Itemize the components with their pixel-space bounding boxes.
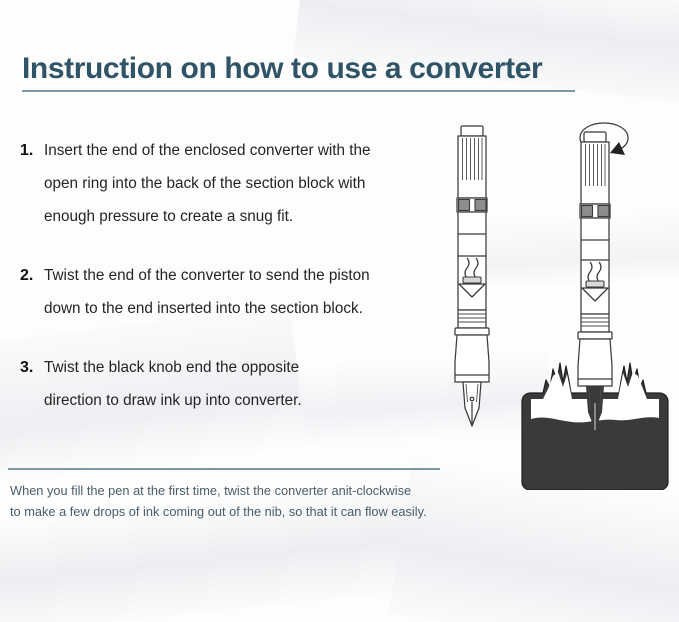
nib-breather-hole <box>470 397 474 401</box>
left-figure-converter-in-section <box>455 126 489 426</box>
step-number: 3. <box>20 351 44 384</box>
step-text-line: Insert the end of the enclosed converter… <box>44 134 371 167</box>
converter-and-ink-bottle-diagram: .ln { fill:none; stroke:#3b3b3b; stroke-… <box>430 110 679 490</box>
step-text-line: open ring into the back of the section b… <box>44 167 365 200</box>
rotation-arrow-head <box>610 142 625 155</box>
step-text-line: direction to draw ink up into converter. <box>44 384 302 417</box>
step-text-line: Twist the black knob end the opposite <box>44 351 299 384</box>
step-first-line: 2. Twist the end of the converter to sen… <box>20 259 450 292</box>
ribbed-collar <box>581 314 609 332</box>
instruction-sheet: Instruction on how to use a converter 1.… <box>0 0 679 622</box>
right-figure-pen-in-ink-bottle <box>522 123 668 490</box>
ring-band-segment <box>475 200 486 211</box>
step-text-line-wrap: down to the end inserted into the sectio… <box>20 292 450 325</box>
step-text-line-wrap: open ring into the back of the section b… <box>20 167 450 200</box>
page-title: Instruction on how to use a converter <box>22 52 582 86</box>
step-text-line: Twist the end of the converter to send t… <box>44 259 370 292</box>
step-number: 1. <box>20 134 44 167</box>
section-mouth-ring <box>578 332 612 339</box>
list-item: 3. Twist the black knob end the opposite… <box>20 351 450 417</box>
ring-band-segment <box>598 206 609 217</box>
step-first-line: 1. Insert the end of the enclosed conver… <box>20 134 450 167</box>
instruction-steps-list: 1. Insert the end of the enclosed conver… <box>20 134 450 443</box>
piston-seal <box>586 281 604 287</box>
ring-band-segment <box>459 200 470 211</box>
illustration-area: .ln { fill:none; stroke:#3b3b3b; stroke-… <box>430 110 679 490</box>
ring-band-segment <box>582 206 593 217</box>
ribbed-collar <box>458 310 486 328</box>
footer-note-line: When you fill the pen at the first time,… <box>10 480 480 501</box>
step-text-line-wrap: enough pressure to create a snug fit. <box>20 200 450 233</box>
knob-cap <box>584 132 606 142</box>
step-text-line-wrap: direction to draw ink up into converter. <box>20 384 450 417</box>
title-underline-rule <box>22 90 575 92</box>
step-number: 2. <box>20 259 44 292</box>
footer-note: When you fill the pen at the first time,… <box>10 480 480 522</box>
piston-seal <box>463 277 481 283</box>
footer-note-line: to make a few drops of ink coming out of… <box>10 501 480 522</box>
step-text-line: down to the end inserted into the sectio… <box>44 292 363 325</box>
list-item: 1. Insert the end of the enclosed conver… <box>20 134 450 233</box>
list-item: 2. Twist the end of the converter to sen… <box>20 259 450 325</box>
section-mouth-ring <box>455 328 489 335</box>
step-text-line: enough pressure to create a snug fit. <box>44 200 293 233</box>
title-block: Instruction on how to use a converter <box>22 52 582 92</box>
knob-cap <box>461 126 483 136</box>
step-first-line: 3. Twist the black knob end the opposite <box>20 351 450 384</box>
footer-divider-rule <box>8 468 440 470</box>
